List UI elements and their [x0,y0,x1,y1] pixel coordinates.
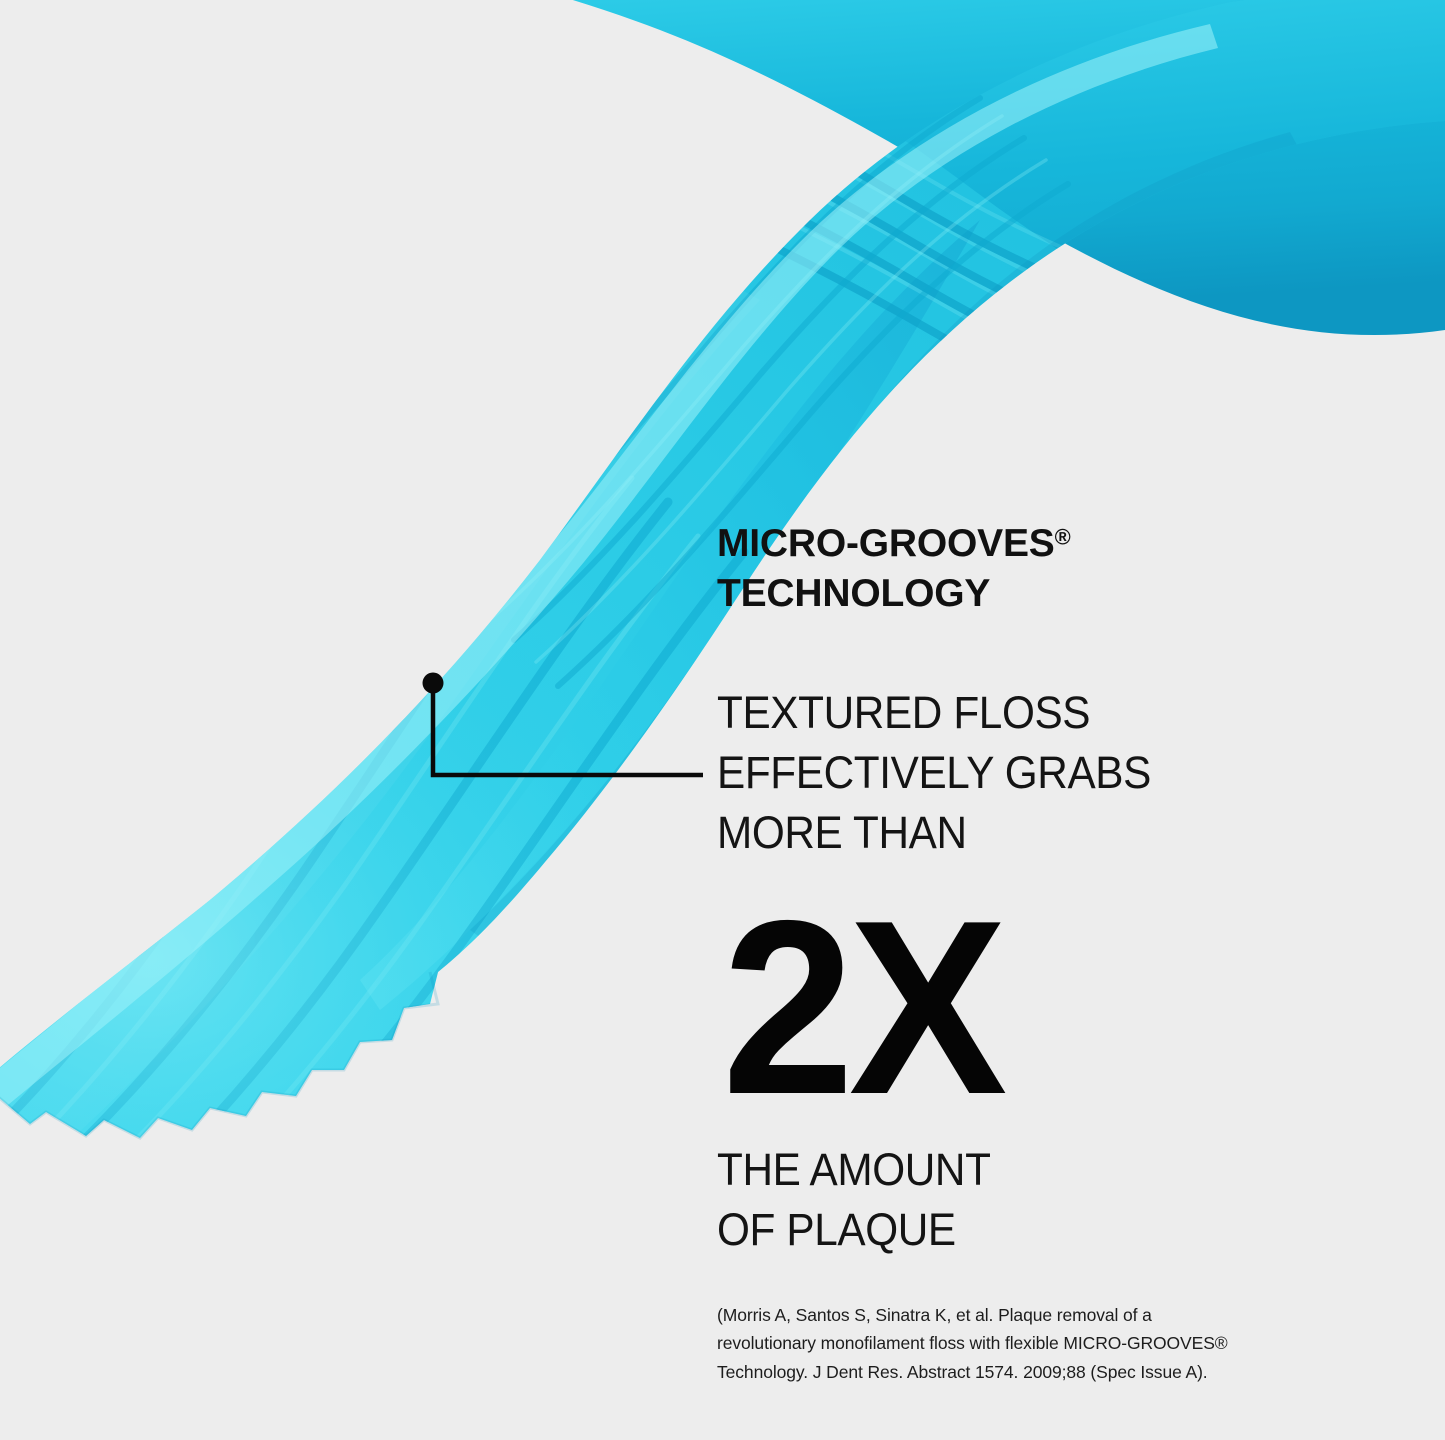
headline-line2: TECHNOLOGY [717,572,990,615]
callout-leader-line [423,673,704,776]
groove-point-marker [423,673,444,694]
page-title: MICRO-GROOVES®TECHNOLOGY [717,519,1277,620]
subheadline: TEXTURED FLOSS EFFECTIVELY GRABS MORE TH… [717,683,1215,863]
stat-caption: THE AMOUNT OF PLAQUE [717,1140,1215,1260]
headline-line1: MICRO-GROOVES [717,522,1055,565]
stat-value: 2X [722,893,1002,1121]
citation-footnote: (Morris A, Santos S, Sinatra K, et al. P… [717,1301,1367,1386]
registered-trademark-icon: ® [1055,525,1071,550]
promo-canvas: MICRO-GROOVES®TECHNOLOGY TEXTURED FLOSS … [0,0,1445,1440]
